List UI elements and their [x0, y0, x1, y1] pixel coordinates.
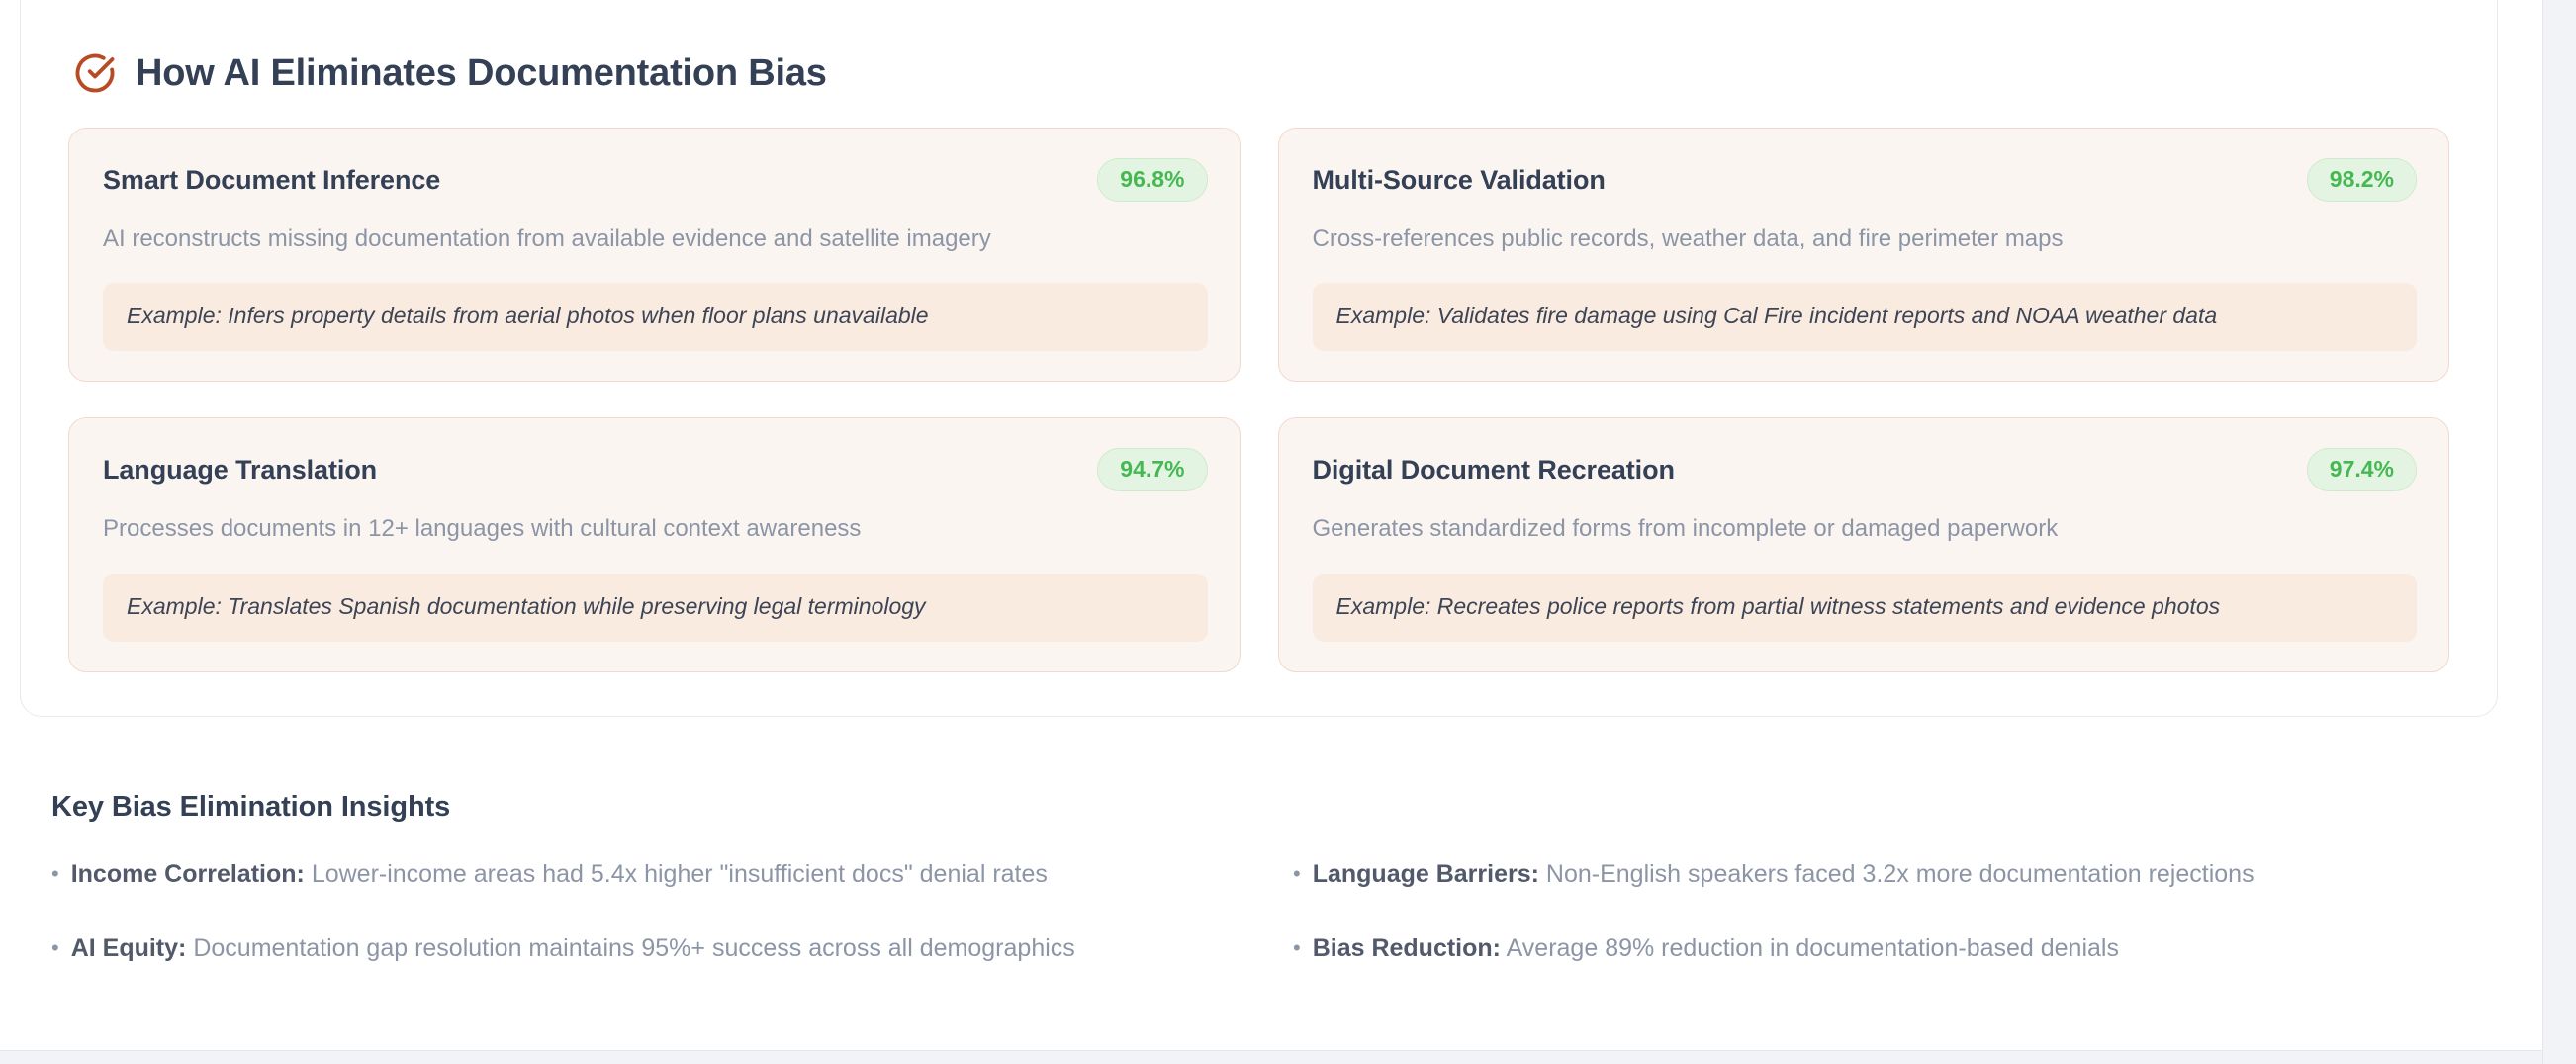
bottom-strip [0, 1051, 2542, 1064]
bullet-icon: • [1293, 937, 1301, 959]
capability-card[interactable]: Digital Document Recreation 97.4% Genera… [1278, 417, 2450, 671]
card-description: Generates standardized forms from incomp… [1313, 513, 2418, 545]
card-header: Multi-Source Validation 98.2% [1313, 158, 2418, 202]
capability-card[interactable]: Language Translation 94.7% Processes doc… [68, 417, 1241, 671]
card-header: Digital Document Recreation 97.4% [1313, 448, 2418, 491]
key-insights-section: Key Bias Elimination Insights • Income C… [51, 791, 2485, 965]
card-title: Multi-Source Validation [1313, 164, 1606, 196]
card-example: Example: Translates Spanish documentatio… [103, 574, 1208, 642]
insight-text: Average 89% reduction in documentation-b… [1507, 934, 2119, 962]
card-title: Digital Document Recreation [1313, 454, 1675, 486]
insight-text: Non-English speakers faced 3.2x more doc… [1546, 860, 2254, 888]
page-root: How AI Eliminates Documentation Bias Sma… [0, 0, 2576, 1064]
insight-label: AI Equity: [71, 934, 187, 962]
insight-label: Language Barriers: [1313, 860, 1539, 888]
insight-item: • AI Equity: Documentation gap resolutio… [51, 933, 1243, 964]
bullet-icon: • [51, 863, 59, 885]
insight-label: Bias Reduction: [1313, 934, 1501, 962]
insight-label: Income Correlation: [71, 860, 305, 888]
circle-check-icon [74, 52, 116, 94]
card-description: AI reconstructs missing documentation fr… [103, 223, 1208, 255]
card-header: Language Translation 94.7% [103, 448, 1208, 491]
bullet-icon: • [1293, 863, 1301, 885]
page-content: How AI Eliminates Documentation Bias Sma… [0, 0, 2542, 1064]
panel-header: How AI Eliminates Documentation Bias [68, 52, 2449, 94]
page-title: How AI Eliminates Documentation Bias [136, 54, 827, 92]
accuracy-badge: 96.8% [1097, 158, 1207, 202]
accuracy-badge: 94.7% [1097, 448, 1207, 491]
insight-item: • Bias Reduction: Average 89% reduction … [1293, 933, 2485, 964]
card-example: Example: Infers property details from ae… [103, 283, 1208, 351]
capability-card-grid: Smart Document Inference 96.8% AI recons… [68, 128, 2449, 672]
bullet-icon: • [51, 937, 59, 959]
capability-card[interactable]: Smart Document Inference 96.8% AI recons… [68, 128, 1241, 382]
insight-text: Lower-income areas had 5.4x higher "insu… [312, 860, 1048, 888]
card-example: Example: Validates fire damage using Cal… [1313, 283, 2418, 351]
insight-text: Documentation gap resolution maintains 9… [193, 934, 1074, 962]
ai-bias-panel: How AI Eliminates Documentation Bias Sma… [20, 0, 2498, 717]
accuracy-badge: 97.4% [2307, 448, 2417, 491]
card-description: Processes documents in 12+ languages wit… [103, 513, 1208, 545]
card-header: Smart Document Inference 96.8% [103, 158, 1208, 202]
capability-card[interactable]: Multi-Source Validation 98.2% Cross-refe… [1278, 128, 2450, 382]
card-title: Smart Document Inference [103, 164, 440, 196]
insights-grid: • Income Correlation: Lower-income areas… [51, 859, 2485, 965]
insight-item: • Income Correlation: Lower-income areas… [51, 859, 1243, 890]
insight-item: • Language Barriers: Non-English speaker… [1293, 859, 2485, 890]
card-example: Example: Recreates police reports from p… [1313, 574, 2418, 642]
accuracy-badge: 98.2% [2307, 158, 2417, 202]
card-title: Language Translation [103, 454, 377, 486]
scrollbar-gutter[interactable] [2542, 0, 2576, 1064]
insights-title: Key Bias Elimination Insights [51, 791, 2485, 824]
card-description: Cross-references public records, weather… [1313, 223, 2418, 255]
